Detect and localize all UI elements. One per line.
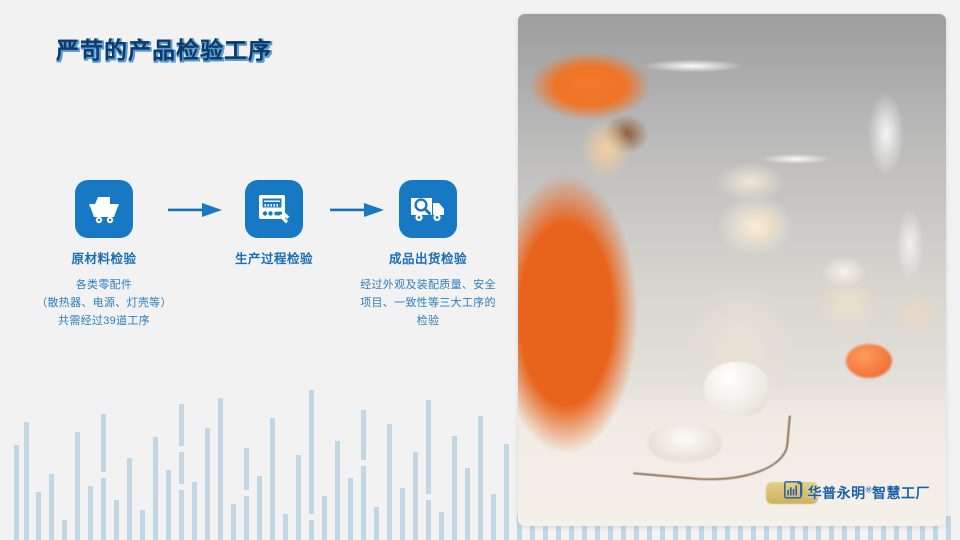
decorative-bar	[309, 520, 314, 540]
flow-step-description-line: 项目、一致性等三大工序的	[343, 294, 513, 312]
brand-watermark: 华普永明®智慧工厂	[784, 481, 930, 504]
decorative-bar	[465, 468, 470, 540]
decorative-bar	[374, 507, 379, 540]
decorative-bar	[439, 512, 444, 540]
decorative-bar	[127, 458, 132, 540]
decorative-bar	[296, 455, 301, 540]
decorative-bar	[452, 436, 457, 540]
watermark-suffix: 智慧工厂	[872, 485, 930, 501]
mining-cart-icon	[75, 180, 133, 238]
delivery-truck-inspection-icon	[399, 180, 457, 238]
decorative-bar	[413, 452, 418, 540]
flow-step-description-line: 检验	[343, 312, 513, 330]
decorative-bar	[62, 520, 67, 540]
inspection-flow-diagram: 原材料检验 各类零配件 （散热器、电源、灯壳等） 共需经过39道工序	[0, 180, 500, 370]
decorative-bar	[478, 416, 483, 540]
production-machine-icon	[245, 180, 303, 238]
decorative-bar	[218, 398, 223, 540]
flow-step-label: 原材料检验	[19, 248, 189, 267]
decorative-bar	[244, 496, 249, 540]
decorative-bar	[491, 494, 496, 540]
page-title: 严苛的产品检验工序	[56, 31, 272, 65]
decorative-bar	[257, 476, 262, 540]
watermark-brand: 华普永明	[808, 485, 866, 501]
decorative-bar	[361, 410, 366, 460]
decorative-bar	[244, 448, 249, 490]
decorative-bar	[387, 424, 392, 540]
decorative-bar	[335, 441, 340, 540]
factory-inspection-photo: 华普永明®智慧工厂	[518, 14, 946, 526]
flow-step-description: 经过外观及装配质量、安全 项目、一致性等三大工序的 检验	[343, 276, 513, 330]
decorative-bar	[101, 414, 106, 472]
decorative-bar	[946, 516, 951, 540]
decorative-bar	[504, 444, 509, 540]
decorative-bar	[348, 478, 353, 540]
decorative-bar	[49, 474, 54, 540]
decorative-bar	[14, 445, 19, 540]
decorative-bar	[205, 428, 210, 540]
decorative-bar	[400, 488, 405, 540]
photo-product-item	[648, 422, 722, 462]
decorative-bar	[426, 500, 431, 540]
flow-step-description-line: 经过外观及装配质量、安全	[343, 276, 513, 294]
decorative-bar	[270, 418, 275, 540]
decorative-bar	[426, 400, 431, 494]
decorative-bar	[140, 510, 145, 540]
decorative-bar	[192, 482, 197, 540]
flow-step-description-line: 共需经过39道工序	[19, 312, 189, 330]
decorative-bar	[361, 466, 366, 540]
flow-step-description-line: （散热器、电源、灯壳等）	[19, 294, 189, 312]
decorative-bar	[179, 452, 184, 484]
photo-orange-detail	[846, 344, 892, 378]
decorative-bar	[179, 404, 184, 446]
watermark-text: 华普永明®智慧工厂	[808, 483, 930, 503]
flow-step-label: 成品出货检验	[343, 248, 513, 267]
decorative-bar	[231, 504, 236, 540]
huapu-yongming-logo-icon	[784, 481, 803, 504]
flow-step-finished-goods-shipment[interactable]: 成品出货检验 经过外观及装配质量、安全 项目、一致性等三大工序的 检验	[343, 180, 513, 330]
flow-step-raw-material[interactable]: 原材料检验 各类零配件 （散热器、电源、灯壳等） 共需经过39道工序	[19, 180, 189, 330]
decorative-bar	[283, 514, 288, 540]
flow-step-description-line: 各类零配件	[19, 276, 189, 294]
decorative-bar	[75, 432, 80, 540]
flow-step-description: 各类零配件 （散热器、电源、灯壳等） 共需经过39道工序	[19, 276, 189, 330]
photo-gloved-hand	[704, 362, 768, 416]
decorative-bar	[153, 437, 158, 540]
decorative-bar	[88, 486, 93, 540]
decorative-bar	[114, 500, 119, 540]
decorative-bar	[101, 478, 106, 540]
decorative-bar	[24, 422, 29, 540]
decorative-bar	[36, 492, 41, 540]
flow-step-label: 生产过程检验	[189, 248, 359, 267]
decorative-bar	[179, 490, 184, 540]
flow-step-production-process[interactable]: 生产过程检验	[189, 180, 359, 267]
decorative-bar	[309, 390, 314, 514]
decorative-bar	[166, 470, 171, 540]
decorative-bar	[322, 496, 327, 540]
